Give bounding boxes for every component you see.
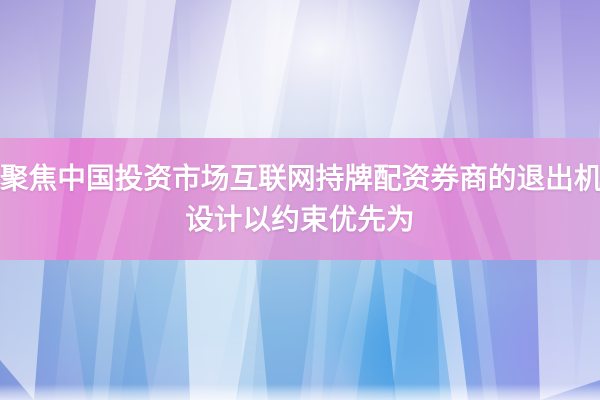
banner-title: 聚焦中国投资市场互联网持牌配资券商的退出机制 设计以约束优先为 bbox=[0, 158, 600, 240]
article-header-banner: 聚焦中国投资市场互联网持牌配资券商的退出机制 设计以约束优先为 bbox=[0, 0, 600, 400]
banner-title-line-2: 设计以约束优先为 bbox=[0, 199, 600, 240]
title-band: 聚焦中国投资市场互联网持牌配资券商的退出机制 设计以约束优先为 bbox=[0, 138, 600, 260]
bottom-fade-strip bbox=[0, 384, 600, 400]
banner-title-line-1: 聚焦中国投资市场互联网持牌配资券商的退出机制 bbox=[0, 158, 600, 199]
